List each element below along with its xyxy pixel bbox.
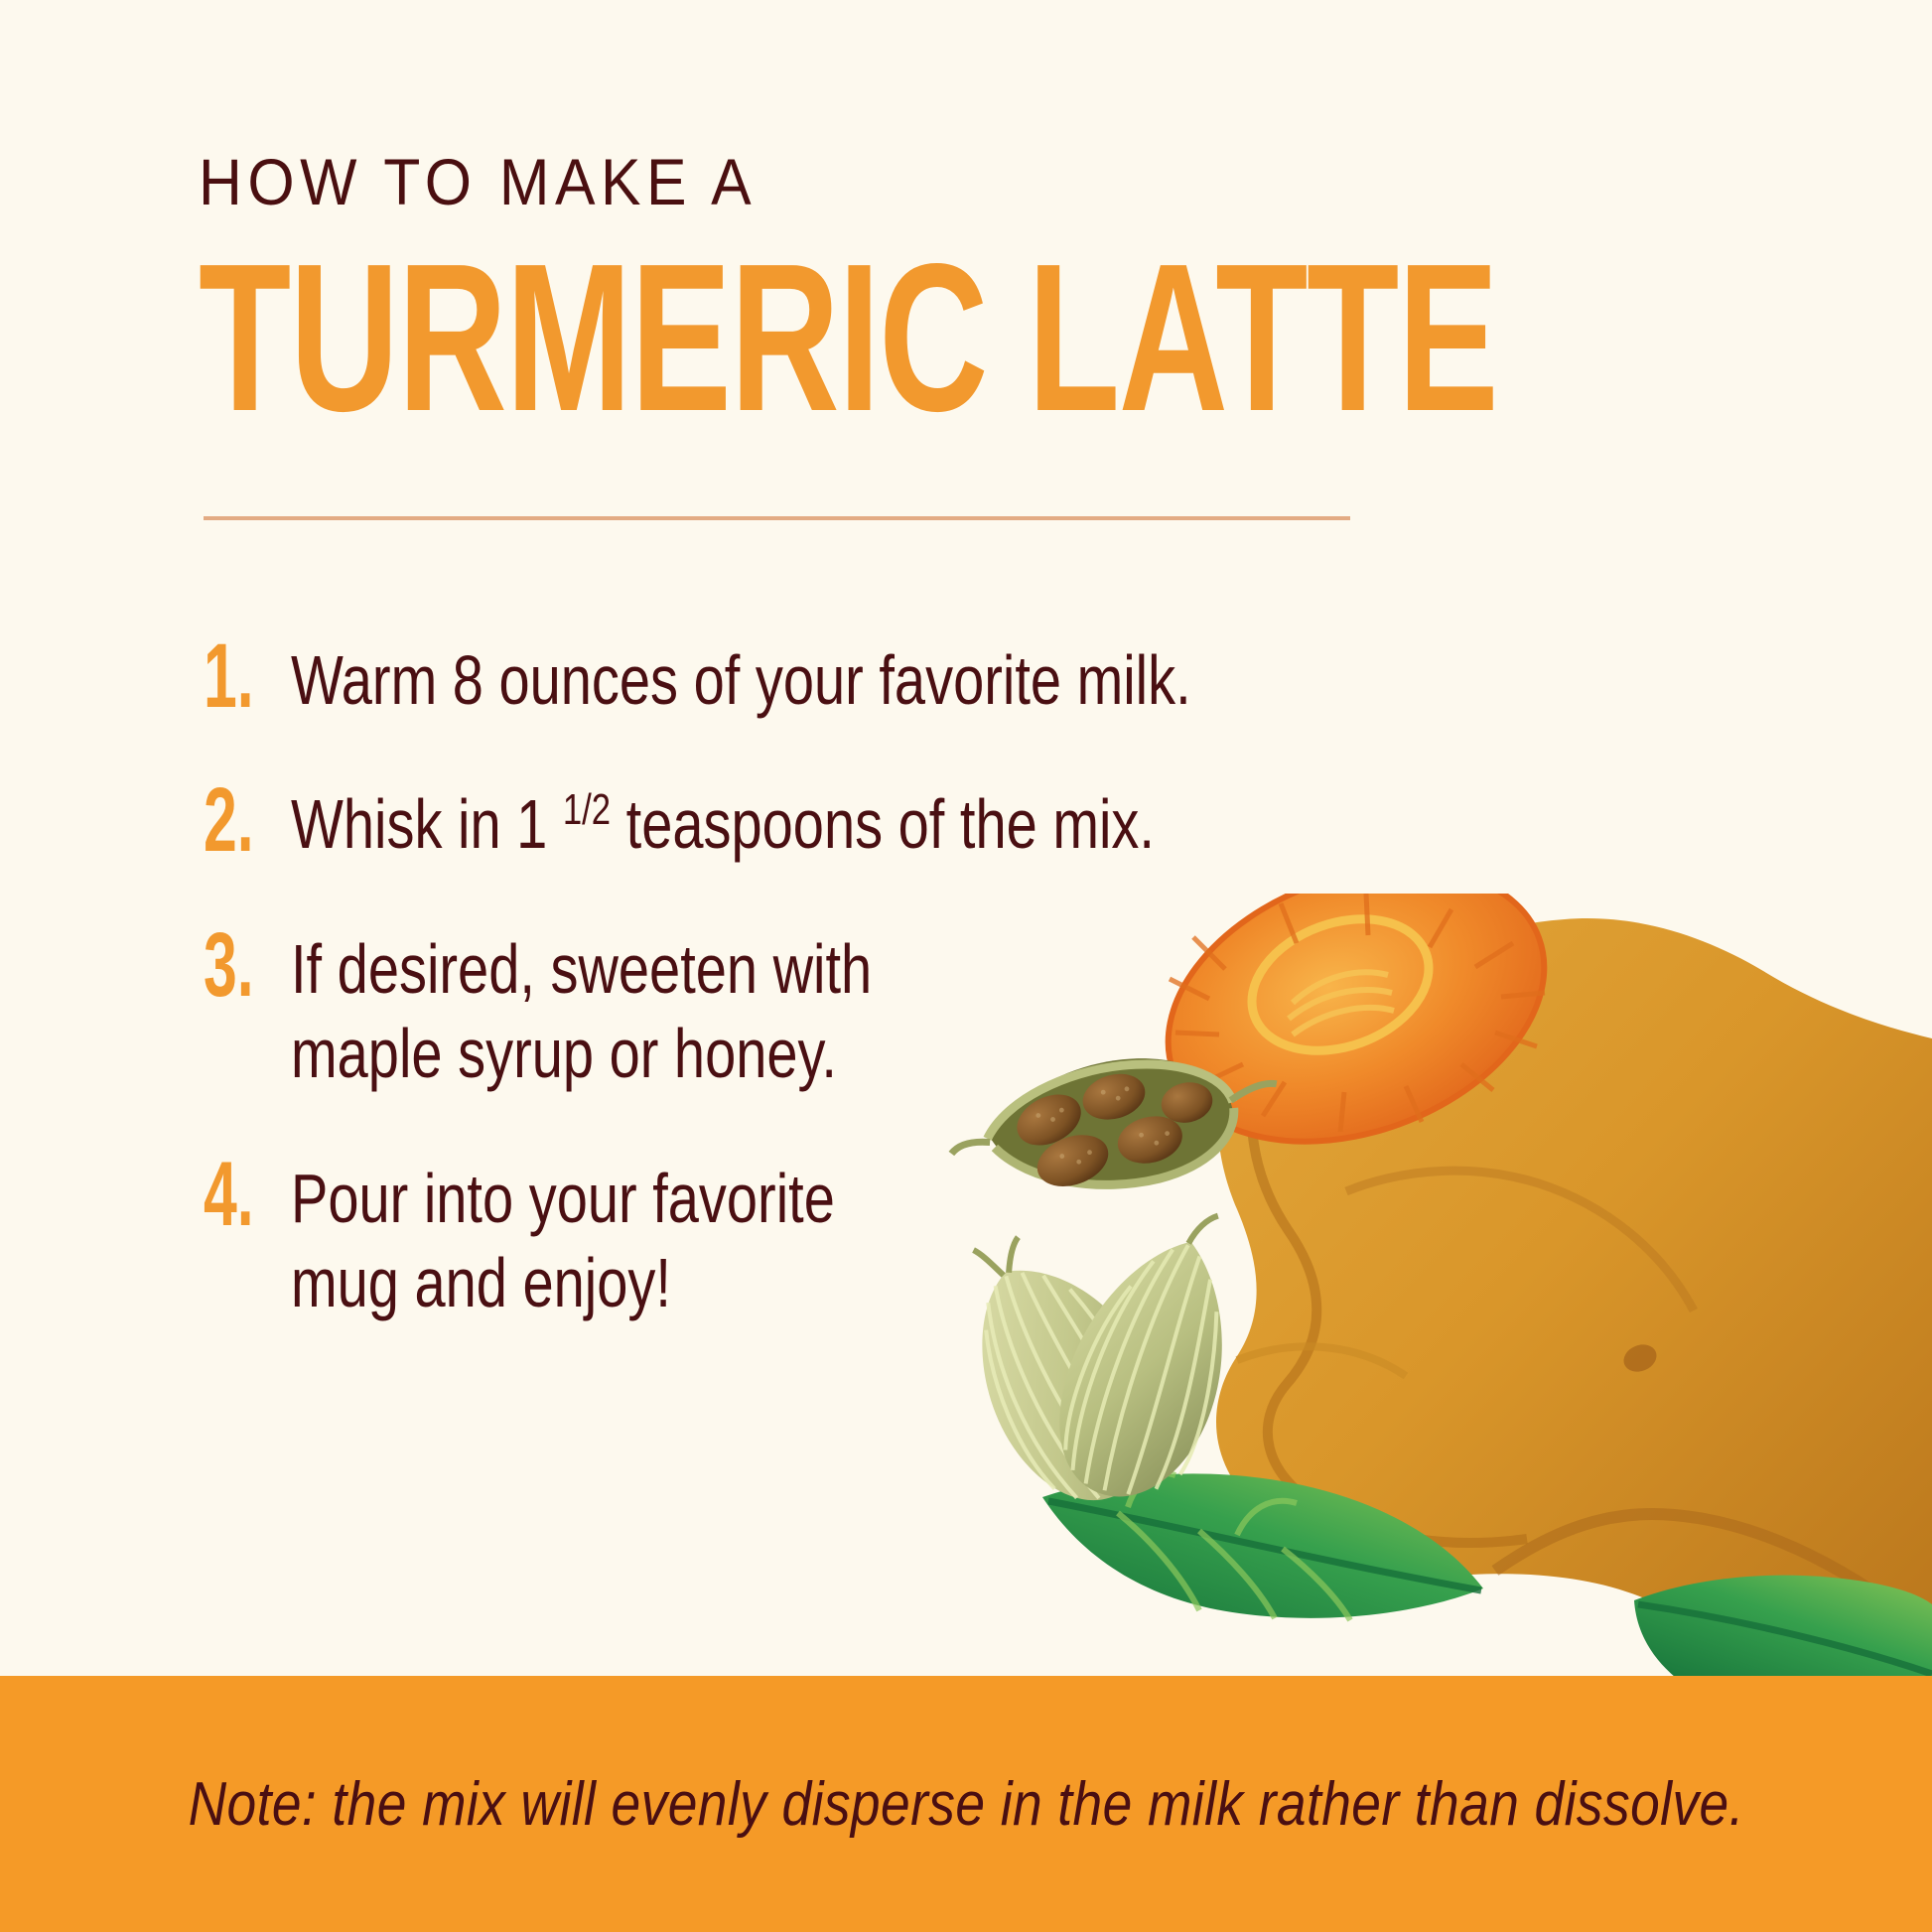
title-divider: [204, 516, 1350, 520]
list-item: 4. Pour into your favorite mug and enjoy…: [204, 1149, 1425, 1326]
leaf-upper-right: [1593, 941, 1758, 1410]
header: HOW TO MAKE A TURMERIC LATTE: [199, 149, 1390, 434]
footer-note-text: Note: the mix will evenly disperse in th…: [188, 1769, 1743, 1840]
leaf-lower-right: [1634, 1576, 1932, 1678]
step-text: Whisk in 1 1/2 teaspoons of the mix.: [291, 774, 1198, 867]
step-text-after: teaspoons of the mix.: [611, 785, 1155, 863]
step-number: 2.: [204, 774, 261, 866]
page-title: TURMERIC LATTE: [199, 240, 1056, 434]
kicker-text: HOW TO MAKE A: [199, 149, 1295, 214]
list-item: 2. Whisk in 1 1/2 teaspoons of the mix.: [204, 774, 1425, 867]
step-number: 3.: [204, 919, 261, 1011]
footer-band: Note: the mix will evenly disperse in th…: [0, 1676, 1932, 1932]
step-text: Warm 8 ounces of your favorite milk.: [291, 630, 1198, 723]
step-number: 1.: [204, 630, 261, 722]
fraction-one-half: 1/2: [563, 787, 611, 835]
step-text-before: Whisk in 1: [291, 785, 563, 863]
leaf-lower-left: [1042, 1473, 1483, 1620]
step-number: 4.: [204, 1149, 261, 1240]
steps-list: 1. Warm 8 ounces of your favorite milk. …: [204, 630, 1425, 1377]
list-item: 3. If desired, sweeten with maple syrup …: [204, 919, 1425, 1097]
infographic-poster: HOW TO MAKE A TURMERIC LATTE 1. Warm 8 o…: [0, 0, 1932, 1932]
list-item: 1. Warm 8 ounces of your favorite milk.: [204, 630, 1425, 723]
footer-note: Note: the mix will evenly disperse in th…: [0, 1676, 1932, 1932]
step-text: If desired, sweeten with maple syrup or …: [291, 919, 1030, 1097]
step-text: Pour into your favorite mug and enjoy!: [291, 1149, 895, 1326]
